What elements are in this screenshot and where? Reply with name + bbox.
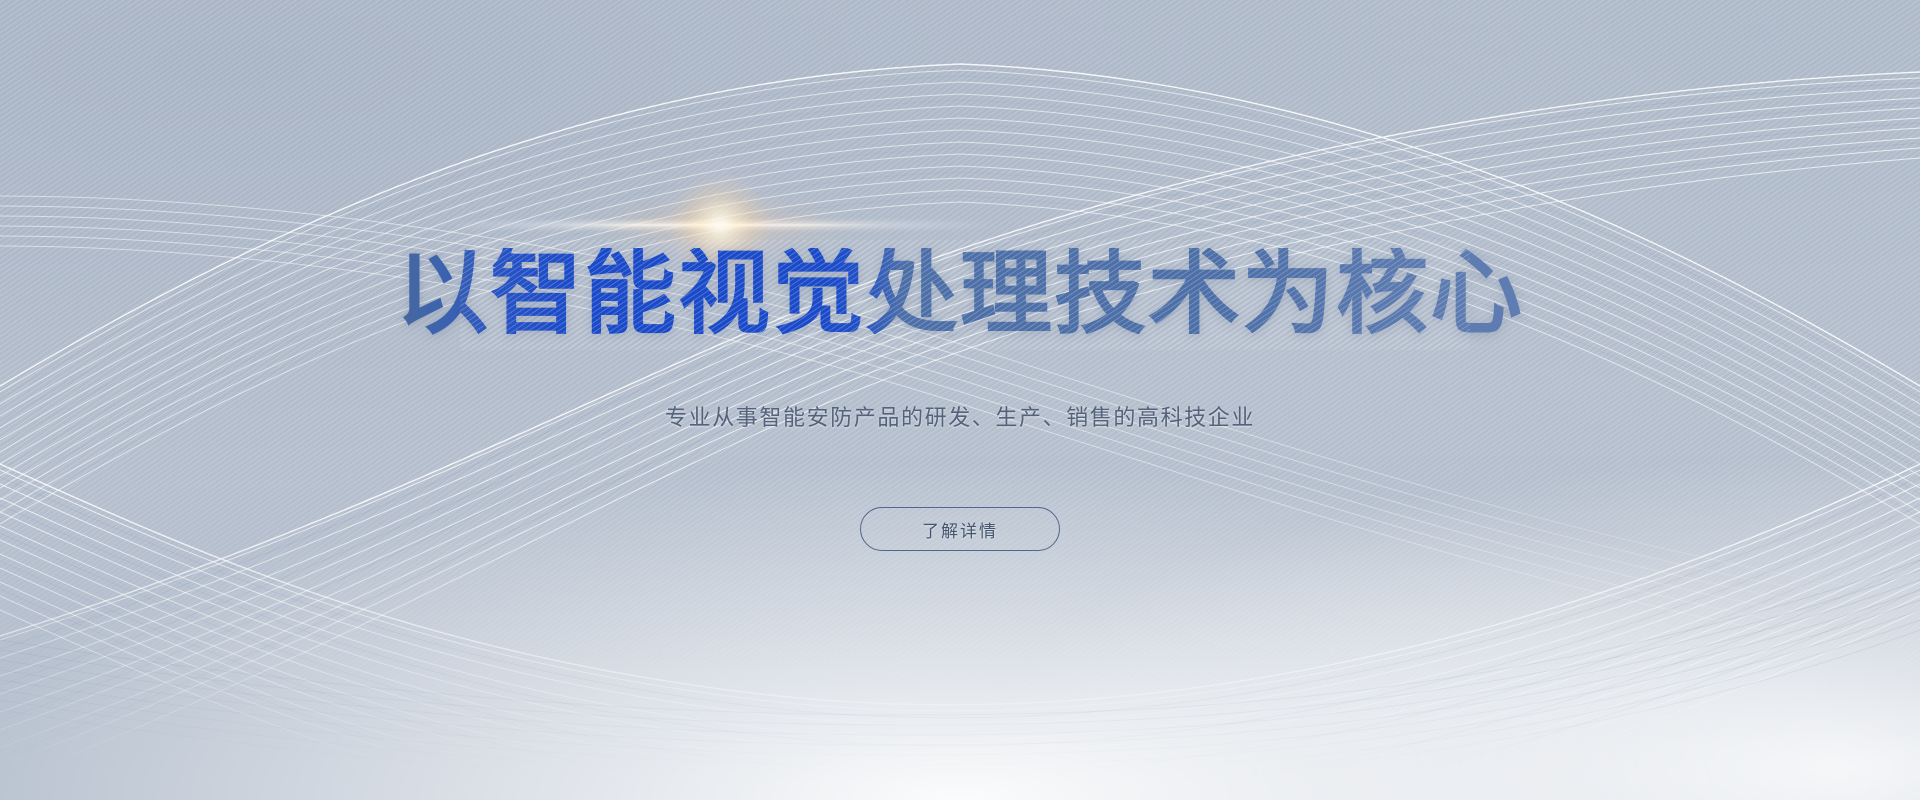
banner-subtitle: 专业从事智能安防产品的研发、生产、销售的高科技企业 <box>665 404 1255 435</box>
banner-headline: 以智能视觉处理技术为核心 <box>396 248 1524 340</box>
hero-banner: 以智能视觉处理技术为核心 专业从事智能安防产品的研发、生产、销售的高科技企业 了… <box>0 0 1920 800</box>
diagonal-hatch-texture <box>0 0 1920 800</box>
learn-more-button[interactable]: 了解详情 <box>860 507 1060 551</box>
